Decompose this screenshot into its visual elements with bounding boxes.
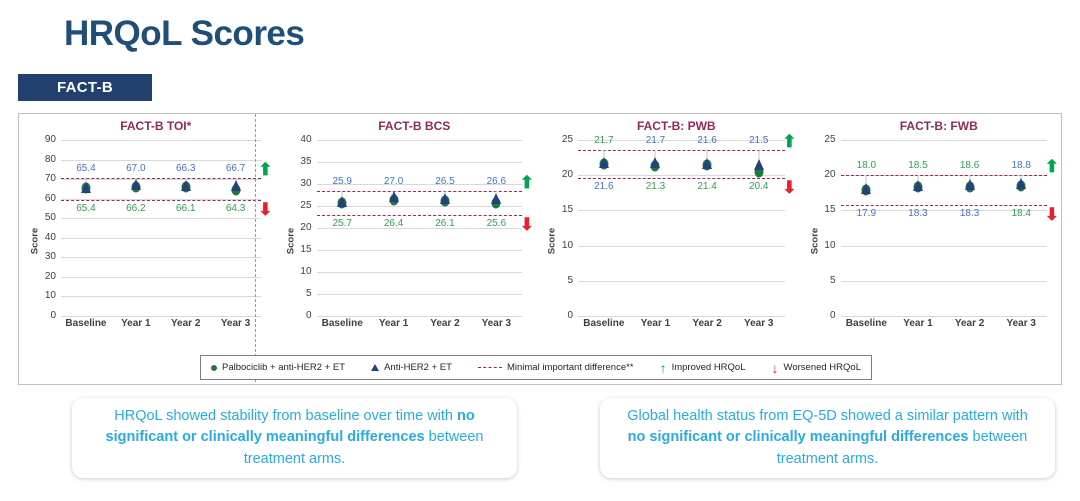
plot-area-wrap: Score 010203040506070809065.465.467.066.…	[19, 140, 275, 342]
panel-title: FACT-B TOI*	[19, 119, 275, 133]
x-axis-labels: BaselineYear 1Year 2Year 3	[841, 318, 1048, 338]
y-gridline: 0	[578, 316, 785, 317]
data-point-anti-her2[interactable]	[754, 159, 764, 170]
y-gridline: 80	[61, 160, 261, 161]
legend-item: Palbociclib + anti-HER2 + ET	[211, 362, 345, 373]
x-tick-label: Year 3	[733, 318, 785, 338]
y-axis-label: Score	[30, 228, 41, 254]
dot-marker	[211, 365, 217, 371]
chart-panel-pwb: FACT-B: PWB Score 051015202521.721.621.7…	[536, 114, 799, 342]
triangle-marker	[371, 364, 379, 371]
plot-area: 051015202530354025.925.727.026.426.526.1…	[317, 140, 523, 316]
charts-container: FACT-B TOI* Score 010203040506070809065.…	[18, 113, 1062, 385]
y-gridline: 10	[317, 272, 523, 273]
legend-item: Minimal important difference**	[478, 362, 634, 373]
panel-title: FACT-B: PWB	[536, 119, 799, 133]
slide-root: HRQoL Scores FACT-B FACT-B TOI* Score 01…	[0, 0, 1080, 501]
worsened-hrqol-arrow-icon: ⬇	[782, 179, 796, 196]
plot-area: 051015202518.017.918.518.318.618.318.818…	[841, 140, 1048, 316]
y-gridline: 0	[841, 316, 1048, 317]
y-tick-label: 5	[830, 275, 836, 286]
y-tick-label: 5	[567, 275, 573, 286]
x-tick-label: Year 2	[681, 318, 733, 338]
data-label-above: 18.5	[908, 160, 927, 171]
legend-item: ↓Worsened HRQoL	[772, 361, 861, 375]
y-axis-label: Score	[285, 228, 296, 254]
y-tick-label: 10	[45, 290, 56, 301]
chart-panel-fwb: FACT-B: FWB Score 051015202518.017.918.5…	[799, 114, 1062, 342]
y-tick-label: 80	[45, 154, 56, 165]
y-gridline: 10	[578, 246, 785, 247]
data-label-below: 65.4	[76, 203, 95, 214]
y-tick-label: 0	[830, 310, 836, 321]
data-point-anti-her2[interactable]	[181, 180, 191, 191]
y-gridline: 40	[317, 140, 523, 141]
legend-label: Anti-HER2 + ET	[384, 362, 452, 373]
x-tick-label: Year 3	[995, 318, 1047, 338]
data-point-anti-her2[interactable]	[491, 193, 501, 204]
data-label-below: 21.3	[646, 181, 665, 192]
data-label-below: 66.1	[176, 203, 195, 214]
data-label-above: 21.7	[646, 135, 665, 146]
y-gridline: 0	[61, 316, 261, 317]
plot-area: 010203040506070809065.465.467.066.266.36…	[61, 140, 261, 316]
x-tick-label: Year 1	[630, 318, 682, 338]
data-point-anti-her2[interactable]	[81, 182, 91, 193]
y-tick-label: 25	[824, 134, 835, 145]
data-label-below: 17.9	[857, 208, 876, 219]
chart-legend: Palbociclib + anti-HER2 + ETAnti-HER2 + …	[200, 355, 872, 380]
y-tick-label: 25	[562, 134, 573, 145]
y-tick-label: 0	[306, 310, 312, 321]
data-point-anti-her2[interactable]	[389, 191, 399, 202]
x-tick-label: Baseline	[61, 318, 111, 338]
x-axis-labels: BaselineYear 1Year 2Year 3	[61, 318, 261, 338]
data-label-above: 18.0	[857, 160, 876, 171]
improved-hrqol-arrow-icon: ⬆	[782, 133, 796, 150]
y-gridline: 15	[317, 250, 523, 251]
y-tick-label: 60	[45, 193, 56, 204]
data-label-below: 18.3	[960, 208, 979, 219]
data-label-above: 25.9	[332, 176, 351, 187]
panel-title: FACT-B: FWB	[799, 119, 1062, 133]
data-point-anti-her2[interactable]	[131, 179, 141, 190]
legend-label: Minimal important difference**	[507, 362, 634, 373]
data-point-anti-her2[interactable]	[861, 183, 871, 194]
data-label-above: 21.6	[697, 135, 716, 146]
y-tick-label: 30	[45, 251, 56, 262]
minimal-important-difference-line	[578, 178, 785, 179]
worsened-hrqol-arrow-icon: ⬇	[520, 216, 534, 233]
data-label-below: 18.3	[908, 208, 927, 219]
y-tick-label: 35	[300, 156, 311, 167]
data-label-above: 66.7	[226, 163, 245, 174]
data-label-above: 21.5	[749, 135, 768, 146]
y-gridline: 5	[578, 281, 785, 282]
data-point-anti-her2[interactable]	[440, 193, 450, 204]
y-tick-label: 10	[824, 240, 835, 251]
y-tick-label: 20	[824, 169, 835, 180]
minimal-important-difference-line	[841, 175, 1048, 176]
legend-item: Anti-HER2 + ET	[371, 362, 452, 373]
panel-title: FACT-B BCS	[275, 119, 537, 133]
arrow-down-icon: ↓	[772, 361, 779, 375]
data-point-anti-her2[interactable]	[599, 157, 609, 168]
y-tick-label: 50	[45, 212, 56, 223]
plot-area-wrap: Score 051015202521.721.621.721.321.621.4…	[536, 140, 799, 342]
y-tick-label: 15	[824, 204, 835, 215]
data-label-below: 21.4	[697, 181, 716, 192]
y-tick-label: 40	[45, 232, 56, 243]
y-gridline: 40	[61, 238, 261, 239]
data-label-below: 26.4	[384, 218, 403, 229]
x-tick-label: Year 2	[944, 318, 996, 338]
y-gridline: 25	[841, 140, 1048, 141]
y-gridline: 90	[61, 140, 261, 141]
y-gridline: 20	[61, 277, 261, 278]
x-tick-label: Baseline	[317, 318, 368, 338]
y-tick-label: 15	[300, 244, 311, 255]
arrow-up-icon: ↑	[660, 361, 667, 375]
chart-panels: FACT-B TOI* Score 010203040506070809065.…	[19, 114, 1061, 342]
data-point-anti-her2[interactable]	[650, 157, 660, 168]
worsened-hrqol-arrow-icon: ⬇	[258, 201, 272, 218]
plot-area: 051015202521.721.621.721.321.621.421.520…	[578, 140, 785, 316]
data-label-above: 67.0	[126, 163, 145, 174]
y-gridline: 30	[61, 257, 261, 258]
x-tick-label: Baseline	[841, 318, 893, 338]
plot-area-wrap: Score 051015202530354025.925.727.026.426…	[275, 140, 537, 342]
x-tick-label: Year 2	[161, 318, 211, 338]
x-tick-label: Year 2	[419, 318, 470, 338]
data-label-above: 27.0	[384, 176, 403, 187]
y-tick-label: 10	[562, 240, 573, 251]
y-tick-label: 70	[45, 173, 56, 184]
plot-area-wrap: Score 051015202518.017.918.518.318.618.3…	[799, 140, 1062, 342]
data-label-below: 66.2	[126, 203, 145, 214]
x-tick-label: Year 3	[471, 318, 522, 338]
panel-divider	[255, 114, 256, 382]
legend-item: ↑Improved HRQoL	[660, 361, 746, 375]
tab-fact-b[interactable]: FACT-B	[18, 74, 152, 101]
y-gridline: 10	[61, 296, 261, 297]
y-gridline: 0	[317, 316, 523, 317]
y-axis-label: Score	[809, 228, 820, 254]
data-point-anti-her2[interactable]	[337, 196, 347, 207]
y-tick-label: 0	[50, 310, 56, 321]
y-gridline: 50	[61, 218, 261, 219]
data-point-anti-her2[interactable]	[231, 180, 241, 191]
x-tick-label: Year 3	[211, 318, 261, 338]
data-label-above: 18.8	[1011, 160, 1030, 171]
data-label-below: 20.4	[749, 181, 768, 192]
worsened-hrqol-arrow-icon: ⬇	[1045, 206, 1059, 223]
data-point-anti-her2[interactable]	[702, 158, 712, 169]
data-label-above: 26.5	[435, 176, 454, 187]
data-label-below: 25.7	[332, 218, 351, 229]
callout-right: Global health status from EQ-5D showed a…	[600, 398, 1055, 478]
y-tick-label: 5	[306, 288, 312, 299]
dashed-line	[478, 367, 502, 368]
data-label-above: 26.6	[487, 176, 506, 187]
improved-hrqol-arrow-icon: ⬆	[520, 174, 534, 191]
y-tick-label: 20	[562, 169, 573, 180]
data-label-above: 66.3	[176, 163, 195, 174]
y-gridline: 15	[578, 210, 785, 211]
data-point-anti-her2[interactable]	[913, 180, 923, 191]
callout-left-text: HRQoL showed stability from baseline ove…	[90, 406, 499, 469]
y-gridline: 35	[317, 162, 523, 163]
x-tick-label: Baseline	[578, 318, 630, 338]
data-label-below: 21.6	[594, 181, 613, 192]
y-tick-label: 20	[45, 271, 56, 282]
data-label-below: 25.6	[487, 218, 506, 229]
chart-panel-bcs: FACT-B BCS Score 051015202530354025.925.…	[275, 114, 537, 342]
y-tick-label: 25	[300, 200, 311, 211]
y-tick-label: 20	[300, 222, 311, 233]
minimal-important-difference-line	[317, 215, 523, 216]
page-title: HRQoL Scores	[64, 14, 304, 54]
minimal-important-difference-line	[578, 150, 785, 151]
y-gridline: 5	[841, 281, 1048, 282]
y-tick-label: 10	[300, 266, 311, 277]
x-axis-labels: BaselineYear 1Year 2Year 3	[578, 318, 785, 338]
minimal-important-difference-line	[61, 200, 261, 201]
data-label-below: 64.3	[226, 203, 245, 214]
x-tick-label: Year 1	[368, 318, 419, 338]
data-label-above: 21.7	[594, 135, 613, 146]
legend-label: Worsened HRQoL	[784, 362, 861, 373]
x-tick-label: Year 1	[111, 318, 161, 338]
y-tick-label: 30	[300, 178, 311, 189]
legend-label: Improved HRQoL	[672, 362, 746, 373]
y-tick-label: 15	[562, 204, 573, 215]
y-gridline: 25	[317, 206, 523, 207]
x-axis-labels: BaselineYear 1Year 2Year 3	[317, 318, 523, 338]
y-axis-label: Score	[547, 228, 558, 254]
data-label-above: 18.6	[960, 160, 979, 171]
data-point-anti-her2[interactable]	[965, 179, 975, 190]
data-label-above: 65.4	[76, 163, 95, 174]
y-gridline: 20	[578, 175, 785, 176]
data-point-anti-her2[interactable]	[1016, 178, 1026, 189]
y-gridline: 10	[841, 246, 1048, 247]
minimal-important-difference-line	[841, 205, 1048, 206]
callout-left: HRQoL showed stability from baseline ove…	[72, 398, 517, 478]
chart-panel-toi: FACT-B TOI* Score 010203040506070809065.…	[19, 114, 275, 342]
x-tick-label: Year 1	[892, 318, 944, 338]
legend-label: Palbociclib + anti-HER2 + ET	[222, 362, 345, 373]
y-tick-label: 0	[567, 310, 573, 321]
improved-hrqol-arrow-icon: ⬆	[1045, 158, 1059, 175]
y-gridline: 5	[317, 294, 523, 295]
y-tick-label: 90	[45, 134, 56, 145]
data-label-below: 26.1	[435, 218, 454, 229]
data-label-below: 18.4	[1011, 208, 1030, 219]
callout-right-text: Global health status from EQ-5D showed a…	[618, 406, 1037, 469]
y-tick-label: 40	[300, 134, 311, 145]
improved-hrqol-arrow-icon: ⬆	[258, 161, 272, 178]
